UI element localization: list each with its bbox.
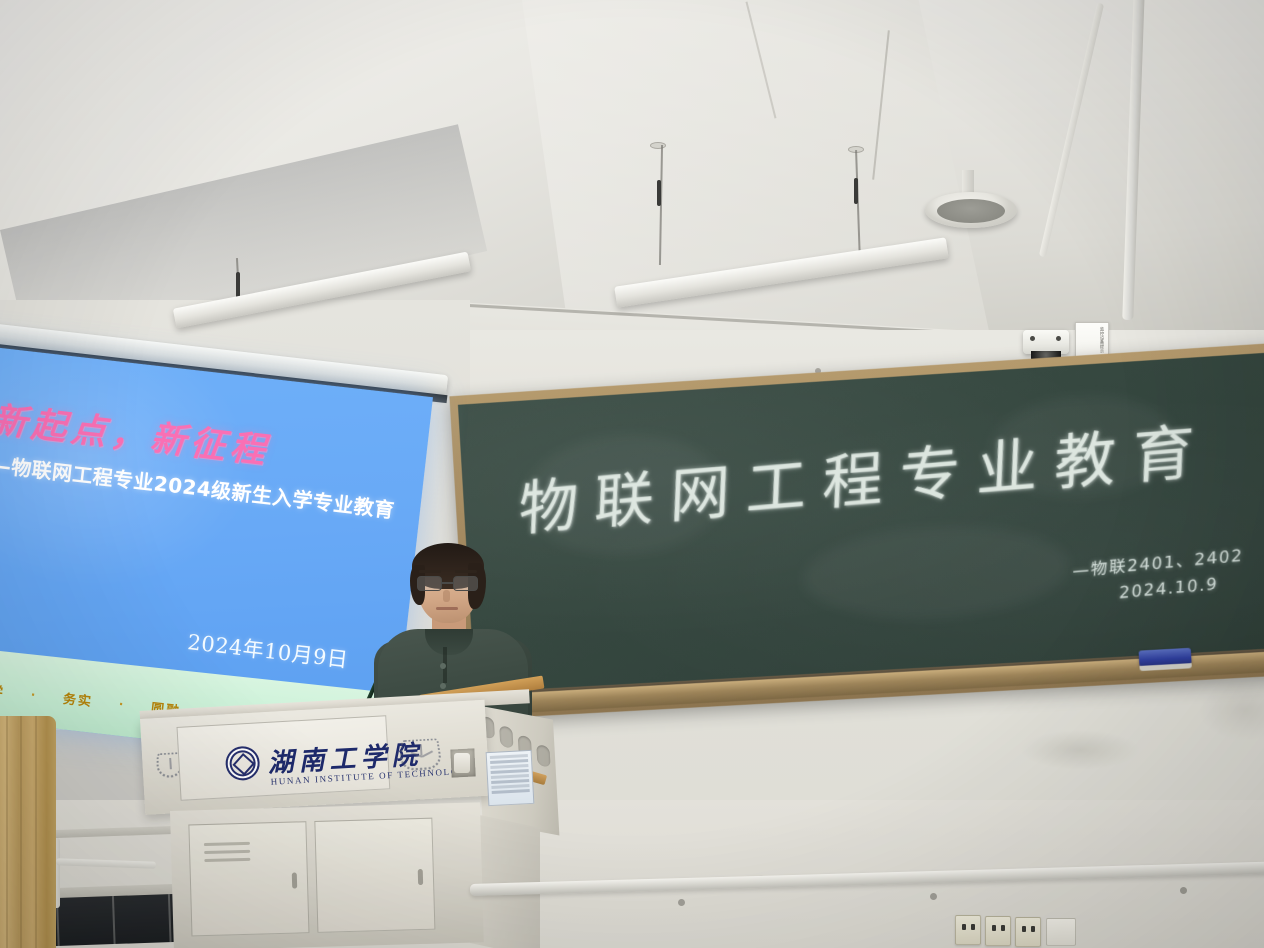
ceiling-speaker bbox=[925, 192, 1017, 228]
chalk-smudge bbox=[800, 519, 1073, 626]
podium-power-plug[interactable] bbox=[454, 753, 470, 773]
window-curtain[interactable] bbox=[0, 716, 56, 948]
lectern-podium[interactable]: 湖南工学院 HUNAN INSTITUTE OF TECHNOLOGY bbox=[140, 693, 540, 948]
slide-date: 2024年10月9日 bbox=[186, 626, 350, 674]
instruction-line bbox=[492, 789, 530, 794]
outlet-slot bbox=[1001, 925, 1005, 931]
eraser-felt bbox=[1139, 663, 1191, 671]
blackboard-eraser[interactable] bbox=[1139, 648, 1192, 667]
curtain-fold bbox=[20, 716, 22, 948]
university-seal-icon bbox=[225, 745, 261, 781]
motto-separator: · bbox=[118, 696, 126, 711]
light-hanger-clamp bbox=[657, 180, 661, 206]
blackboard-heading: 物联网工程专业教育 bbox=[517, 399, 1238, 547]
blackboard-frame: 物联网工程专业教育 —物联2401、2402 2024.10.9 bbox=[449, 343, 1264, 720]
curtain-fold bbox=[35, 716, 37, 948]
outlet-slot bbox=[971, 924, 975, 930]
glasses-icon bbox=[417, 576, 479, 591]
cabinet-vent-slit bbox=[204, 858, 250, 862]
wall-smudge bbox=[1020, 730, 1140, 770]
pipe-clip bbox=[930, 893, 937, 900]
podium-vent-hole bbox=[499, 725, 513, 748]
presenter-eyebrow bbox=[455, 570, 477, 573]
cabinet-door-handle[interactable] bbox=[292, 872, 297, 888]
podium-cabinet bbox=[170, 802, 484, 948]
wall-power-outlet[interactable] bbox=[955, 915, 981, 945]
wall-blank-plate bbox=[1046, 918, 1076, 946]
speaker-cone bbox=[937, 199, 1005, 223]
camera-led-icon bbox=[1056, 336, 1061, 341]
curtain-fold bbox=[6, 716, 8, 948]
podium-cabinet-door-left[interactable] bbox=[188, 821, 309, 936]
podium-vent-hole bbox=[536, 744, 550, 767]
outlet-slot bbox=[962, 924, 966, 930]
basket-line bbox=[421, 750, 432, 757]
baseboard-joint bbox=[112, 896, 116, 944]
blackboard-surface: 物联网工程专业教育 —物联2401、2402 2024.10.9 bbox=[458, 353, 1264, 694]
outlet-slot bbox=[1022, 926, 1026, 932]
motto-separator: · bbox=[30, 687, 38, 702]
podium-front-face: 湖南工学院 HUNAN INSTITUTE OF TECHNOLOGY bbox=[140, 700, 490, 815]
basket-line bbox=[420, 744, 423, 755]
outlet-slot bbox=[1031, 926, 1035, 932]
instruction-line bbox=[490, 754, 528, 759]
wall-power-outlet[interactable] bbox=[985, 916, 1011, 946]
motto-word-2: 务实 bbox=[62, 688, 94, 710]
pipe-clip bbox=[1180, 887, 1187, 894]
blackboard: 物联网工程专业教育 —物联2401、2402 2024.10.9 bbox=[459, 396, 1264, 720]
ceiling-hook bbox=[650, 142, 666, 149]
presenter-nose bbox=[443, 590, 450, 602]
outlet-slot bbox=[992, 925, 996, 931]
instruction-line bbox=[491, 774, 529, 779]
presenter-mouth bbox=[436, 607, 458, 610]
waste-basket-icon bbox=[400, 738, 444, 771]
glasses-bridge bbox=[442, 582, 453, 584]
seal-inner-diamond bbox=[232, 753, 255, 776]
cabinet-door-handle[interactable] bbox=[418, 869, 423, 885]
glasses-lens-left bbox=[417, 576, 442, 591]
light-hanger-clamp bbox=[236, 272, 240, 298]
instruction-line bbox=[491, 779, 529, 784]
presenter-button bbox=[440, 663, 446, 669]
pipe-clip bbox=[678, 899, 685, 906]
presenter-eyebrow bbox=[419, 570, 441, 573]
classroom-scene: 监控设备提示 物联网工程专业教育 —物联2401、2402 2024.10.9 bbox=[0, 0, 1264, 948]
instruction-line bbox=[491, 769, 529, 774]
light-hanger-clamp bbox=[854, 178, 858, 204]
podium-instruction-card bbox=[486, 750, 535, 806]
instruction-line bbox=[491, 784, 529, 789]
presenter-button bbox=[440, 683, 446, 689]
cabinet-vent-slit bbox=[204, 850, 250, 854]
instruction-line bbox=[490, 759, 528, 764]
blackboard-date-note: 2024.10.9 bbox=[1119, 574, 1219, 603]
instruction-line bbox=[490, 764, 528, 769]
wall-power-outlet[interactable] bbox=[1015, 917, 1041, 947]
cabinet-vent-slit bbox=[204, 842, 250, 846]
blackboard-class-note: —物联2401、2402 bbox=[1072, 536, 1264, 582]
podium-name-plate: 湖南工学院 HUNAN INSTITUTE OF TECHNOLOGY bbox=[177, 715, 391, 801]
basket-line bbox=[169, 758, 172, 769]
motto-word-1: 勤学 bbox=[0, 679, 6, 701]
camera-led-icon bbox=[1030, 336, 1035, 341]
podium-cabinet-door-right[interactable] bbox=[314, 818, 435, 933]
glasses-lens-right bbox=[453, 576, 478, 591]
